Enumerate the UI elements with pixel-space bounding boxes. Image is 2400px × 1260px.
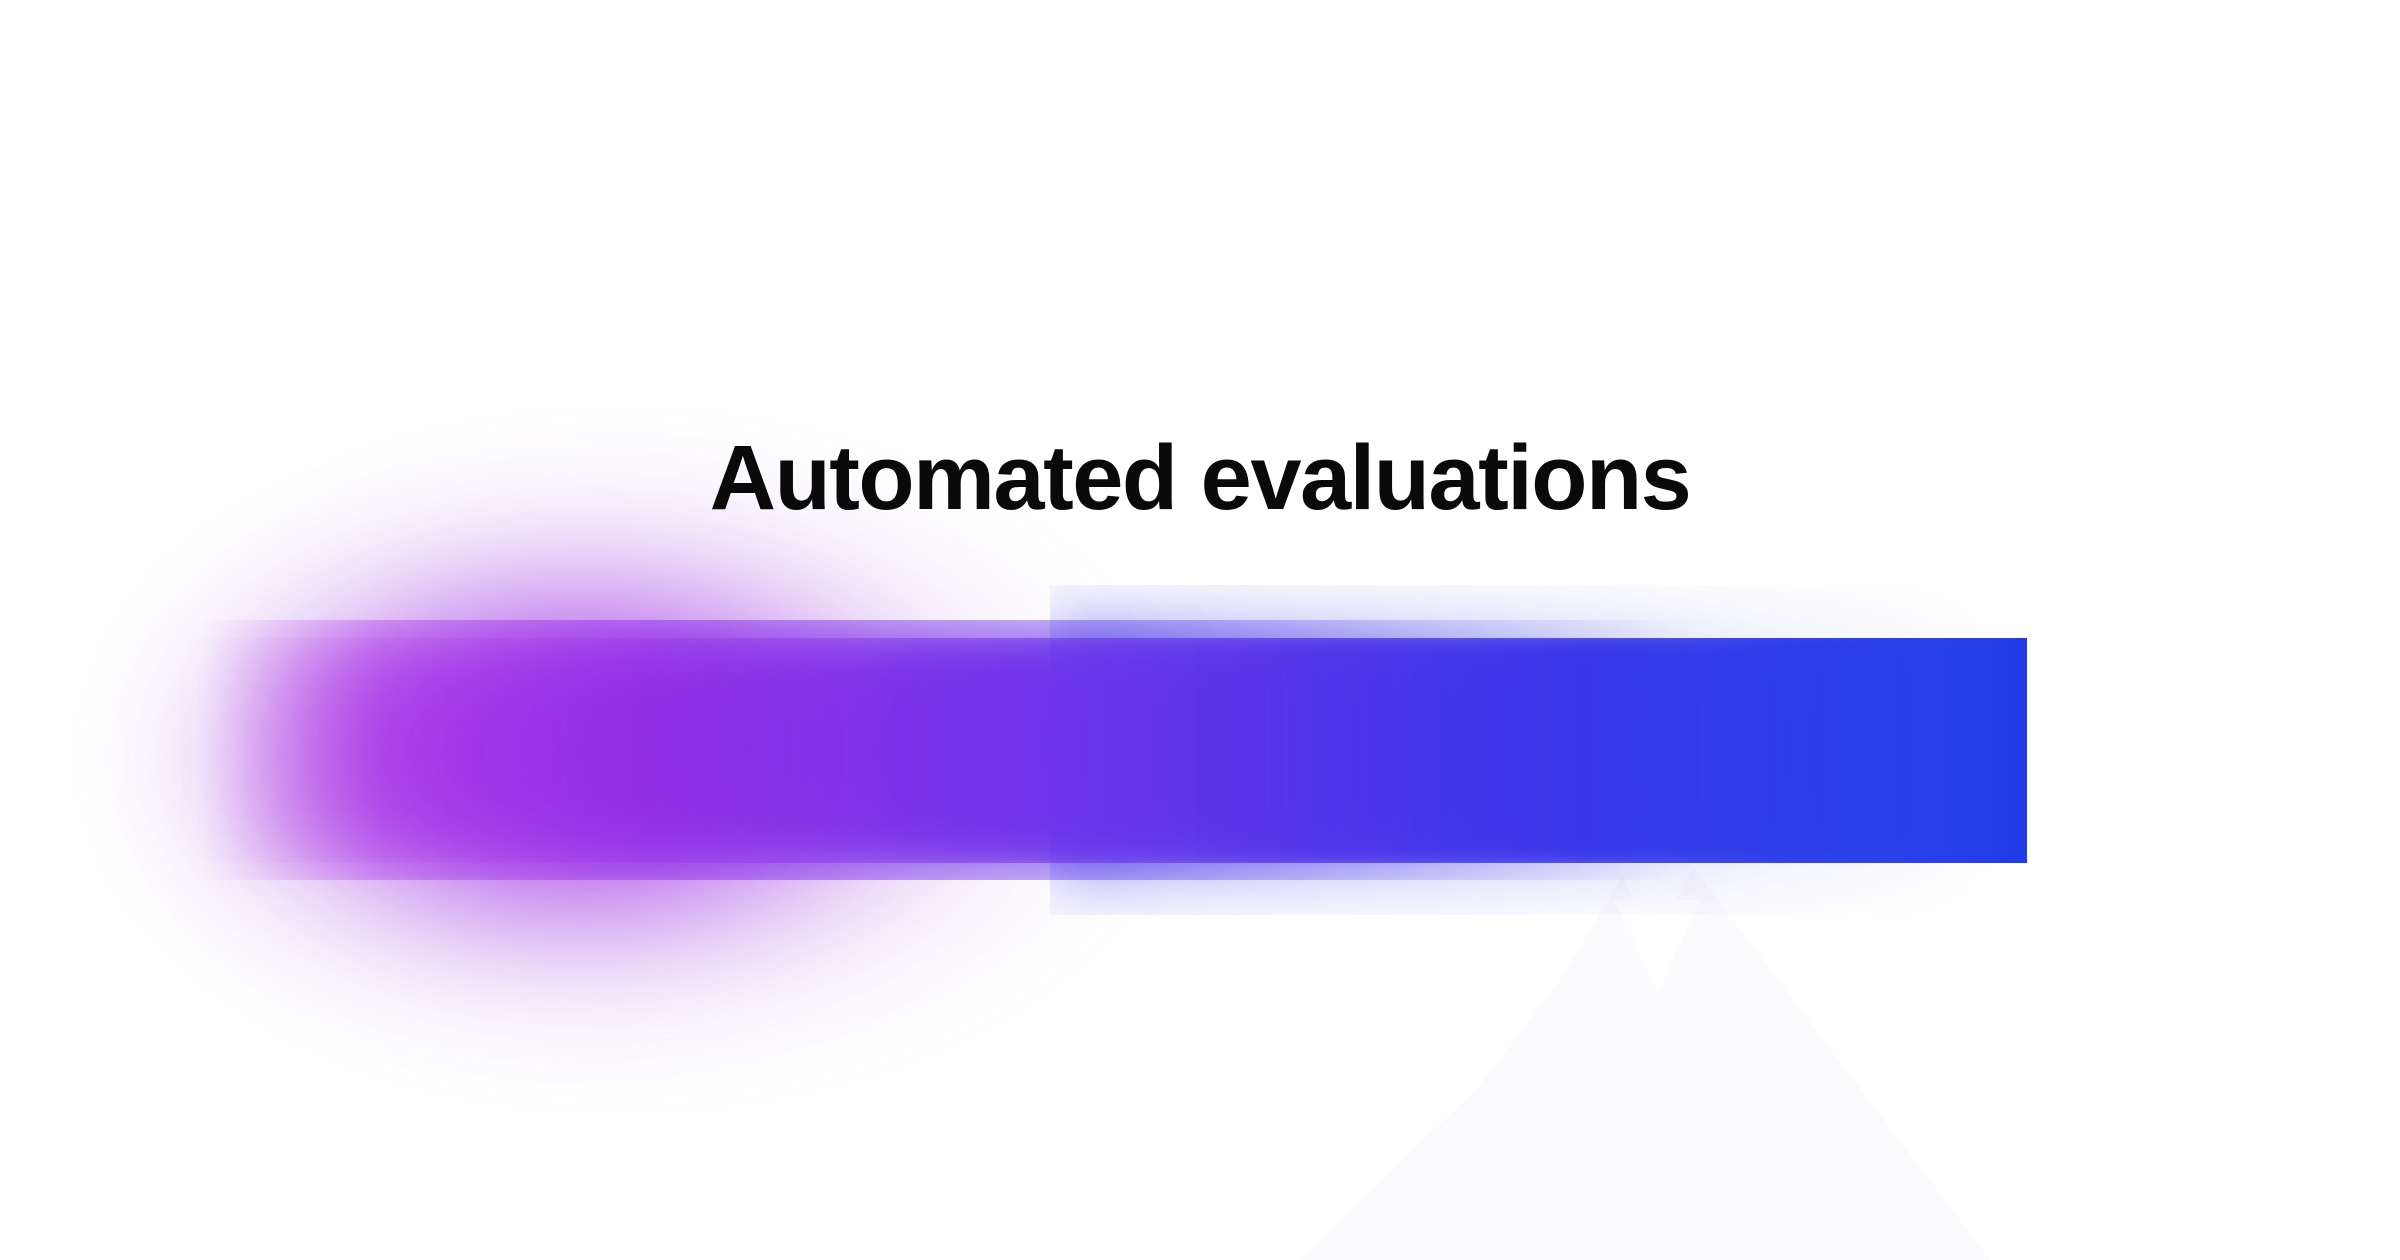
- beam-blue-feather: [1050, 585, 2050, 915]
- beam-blur-medium: [180, 638, 2027, 863]
- beam-blur-light: [180, 638, 2027, 863]
- mountain-left-shape: [1440, 875, 1790, 1260]
- beam-sharp-bar: [180, 638, 2027, 863]
- page-title: Automated evaluations: [0, 430, 2400, 527]
- mountain-right-shape: [1500, 867, 1990, 1260]
- mountain-silhouette: [0, 0, 2400, 1260]
- mountain-valley-notch: [1614, 900, 1700, 992]
- hero-graphic-canvas: Automated evaluations: [0, 0, 2400, 1260]
- beam-blur-heavy: [200, 620, 1700, 880]
- beam-left-bloom: [150, 470, 1150, 1040]
- mountain-left-peak-shape: [1300, 875, 1623, 1260]
- gradient-beam: [0, 0, 2400, 1260]
